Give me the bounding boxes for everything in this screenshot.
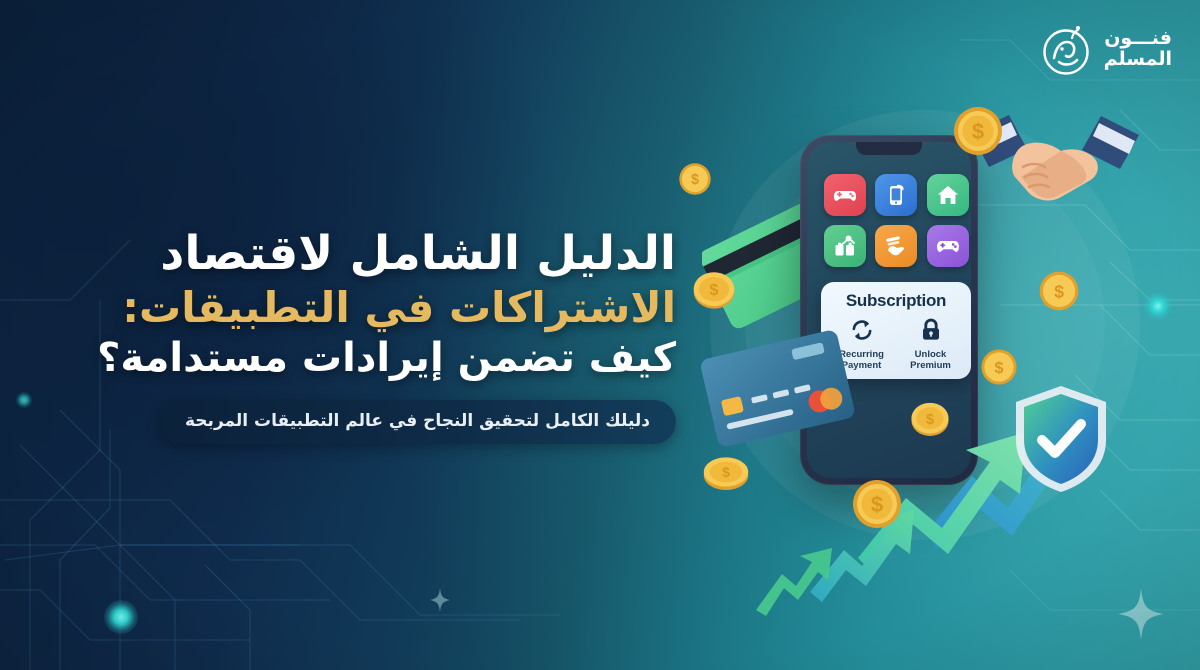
brand-logo-line2: المسلم: [1104, 49, 1172, 70]
growth-arrow-up: [660, 80, 1200, 650]
gold-coin: $: [850, 478, 904, 530]
svg-text:$: $: [972, 119, 984, 144]
brand-logo-mark: [1040, 22, 1092, 76]
headline-line-2: الاشتراكات في التطبيقات:: [40, 283, 676, 333]
svg-text:$: $: [1054, 281, 1064, 301]
headline-line-3: كيف تضمن إيرادات مستدامة؟: [40, 335, 676, 382]
brand-logo-line1: فنـــون: [1104, 28, 1172, 49]
svg-text:$: $: [995, 359, 1004, 377]
gold-coin: $: [952, 105, 1004, 157]
hero-illustration: Subscription Recurring Payment: [660, 80, 1200, 650]
svg-text:$: $: [710, 281, 719, 299]
brand-logo-text: فنـــون المسلم: [1104, 28, 1172, 69]
svg-text:$: $: [926, 412, 934, 428]
gold-coin: $: [980, 348, 1018, 386]
headline-block: الدليل الشامل لاقتصاد الاشتراكات في التط…: [0, 0, 700, 670]
gold-coin: $: [692, 268, 736, 312]
headline-line-1: الدليل الشامل لاقتصاد: [40, 226, 676, 281]
promo-banner: فنـــون المسلم الدليل الشامل لاقتصاد الا…: [0, 0, 1200, 670]
shield-check-icon: [1008, 380, 1114, 498]
gold-coin: $: [1038, 270, 1080, 312]
gold-coin: $: [678, 162, 712, 196]
svg-text:$: $: [871, 492, 883, 517]
subtitle-pill: دليلك الكامل لتحقيق النجاح في عالم التطب…: [159, 400, 676, 444]
headline-lines: الدليل الشامل لاقتصاد الاشتراكات في التط…: [40, 226, 700, 444]
svg-text:$: $: [691, 172, 699, 188]
svg-text:$: $: [722, 465, 730, 480]
brand-logo[interactable]: فنـــون المسلم: [1040, 22, 1172, 76]
gold-coin: $: [908, 398, 952, 440]
gold-coin: $: [702, 452, 750, 492]
